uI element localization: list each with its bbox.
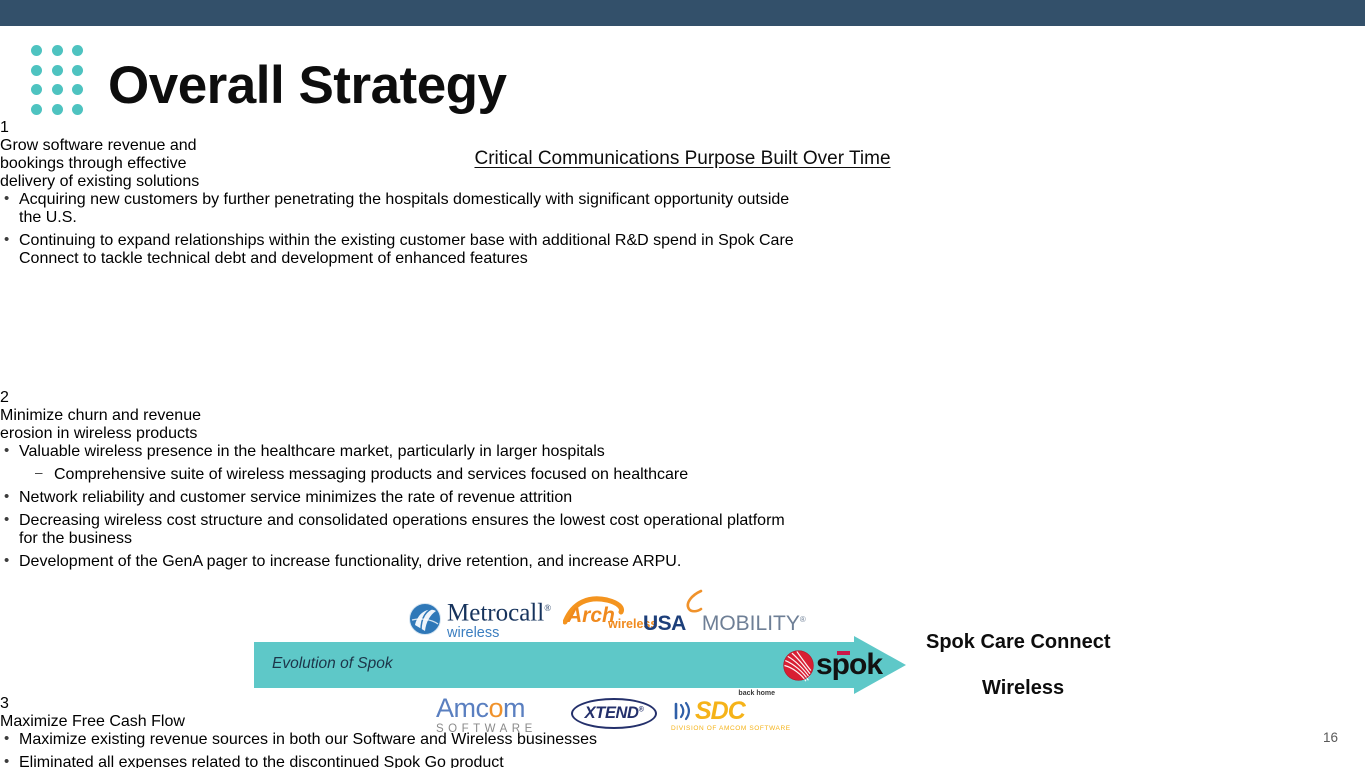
bullet-item: Valuable wireless presence in the health… bbox=[0, 443, 800, 461]
sdc-division-label: DIVISION OF AMCOM SOFTWARE bbox=[671, 725, 791, 732]
evolution-arrow-label: Evolution of Spok bbox=[272, 655, 393, 673]
strategy-bullets-1: Acquiring new customers by further penet… bbox=[0, 191, 800, 268]
amcom-software-logo: Amcom SOFTWARE bbox=[436, 694, 537, 736]
usa-mobility-logo: USA MOBILITY® bbox=[643, 606, 806, 636]
spok-wordmark: spok bbox=[816, 650, 882, 680]
arch-wireless-logo: Arch wireless bbox=[563, 596, 649, 636]
metrocall-wordmark: Metrocall® bbox=[447, 596, 551, 625]
page-number: 16 bbox=[1323, 730, 1338, 745]
strategy-number-badge-1: 1 bbox=[0, 119, 1365, 137]
metrocall-globe-icon bbox=[409, 603, 441, 635]
slide-subtitle: Critical Communications Purpose Built Ov… bbox=[0, 148, 1365, 170]
bullet-item: Decreasing wireless cost structure and c… bbox=[0, 512, 800, 548]
strategy-label-2: Minimize churn and revenue erosion in wi… bbox=[0, 407, 222, 443]
amcom-wordmark: Amcom bbox=[436, 694, 537, 722]
mobility-wordmark: MOBILITY® bbox=[702, 612, 806, 636]
top-accent-bar bbox=[0, 0, 1365, 26]
outcome-label-wireless: Wireless bbox=[982, 677, 1064, 700]
xtend-wordmark: XTEND® bbox=[585, 704, 644, 723]
metrocall-logo: Metrocall® wireless bbox=[409, 596, 551, 641]
strategy-box-3 bbox=[0, 576, 272, 695]
slide-canvas: Overall Strategy Critical Communications… bbox=[0, 0, 1365, 768]
amcom-tagline: SOFTWARE bbox=[436, 722, 537, 736]
dot-grid-logo-icon bbox=[31, 45, 93, 123]
strategy-bullets-2: Valuable wireless presence in the health… bbox=[0, 443, 800, 571]
bullet-item: Development of the GenA pager to increas… bbox=[0, 553, 800, 571]
sdc-signal-wave-icon bbox=[673, 701, 695, 721]
bullet-item: Eliminated all expenses related to the d… bbox=[0, 754, 800, 768]
bullet-item: Network reliability and customer service… bbox=[0, 489, 800, 507]
evolution-arrow: Evolution of Spok spok bbox=[254, 636, 906, 694]
xtend-logo: XTEND® bbox=[571, 698, 657, 729]
sdc-wordmark: SDC bbox=[695, 698, 745, 724]
spok-macron-accent bbox=[837, 651, 850, 655]
usa-wordmark: USA bbox=[643, 612, 686, 636]
outcome-label-spok-care-connect: Spok Care Connect bbox=[926, 631, 1110, 654]
spok-ball-icon bbox=[782, 649, 815, 682]
strategy-label-3: Maximize Free Cash Flow bbox=[0, 713, 222, 731]
usa-mobility-swoosh-icon bbox=[684, 606, 704, 630]
page-title: Overall Strategy bbox=[108, 55, 507, 117]
strategy-bullets-3: Maximize existing revenue sources in bot… bbox=[0, 731, 800, 768]
spok-logo: spok bbox=[782, 646, 894, 684]
bullet-item: Continuing to expand relationships withi… bbox=[0, 232, 800, 268]
bullet-subitem: Comprehensive suite of wireless messagin… bbox=[0, 466, 800, 484]
strategy-box-2 bbox=[0, 273, 272, 389]
bullet-item: Acquiring new customers by further penet… bbox=[0, 191, 800, 227]
sdc-back-home-label: back home bbox=[738, 690, 775, 697]
strategy-number-badge-2: 2 bbox=[0, 389, 1365, 407]
sdc-logo: back home SDC DIVISION OF AMCOM SOFTWARE bbox=[671, 690, 783, 734]
